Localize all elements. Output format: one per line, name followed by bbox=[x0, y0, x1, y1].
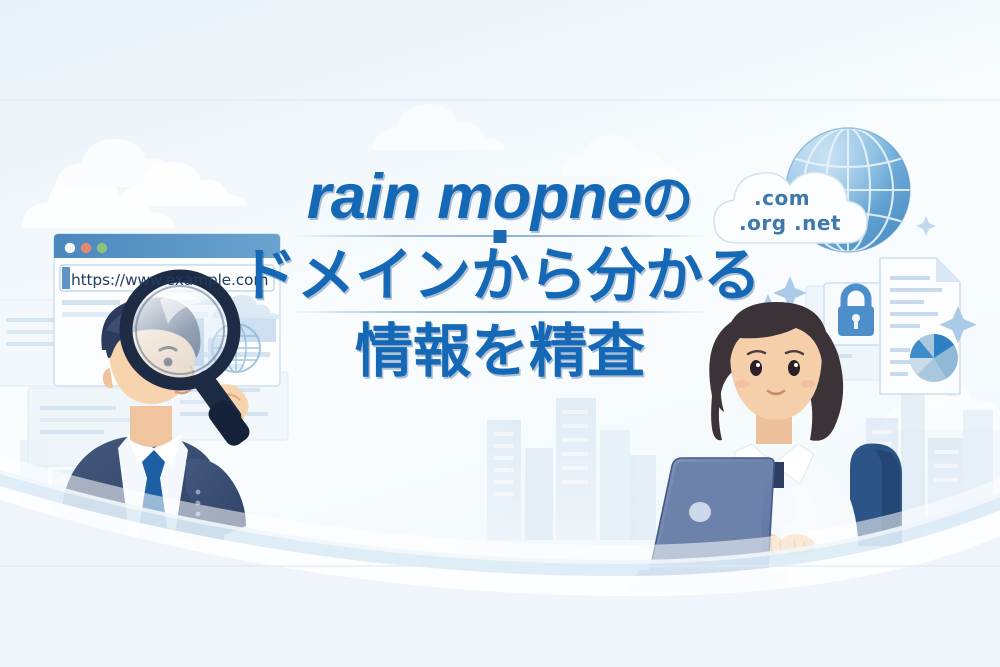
tld-com-label: .com bbox=[754, 186, 810, 210]
tld-org-net-label: .org .net bbox=[739, 211, 841, 235]
wave-overlay bbox=[0, 0, 1000, 667]
banner-canvas: https://www.example.com .com .org .net r… bbox=[0, 0, 1000, 667]
